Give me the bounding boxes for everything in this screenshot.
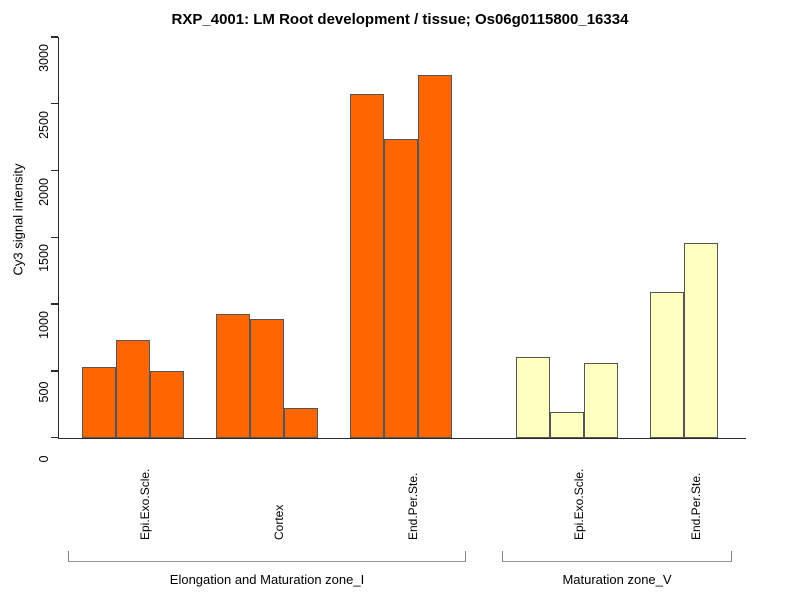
- bar[interactable]: [584, 363, 618, 438]
- x-axis-line: [58, 438, 746, 439]
- bar[interactable]: [384, 139, 418, 437]
- y-tick-label-0: 0: [37, 437, 51, 481]
- bar[interactable]: [250, 319, 284, 438]
- bar[interactable]: [550, 412, 584, 437]
- y-tick-label-1000: 1000: [37, 303, 51, 347]
- group-label: Elongation and Maturation zone_I: [68, 572, 466, 587]
- y-tick-label-3000: 3000: [37, 36, 51, 80]
- page-title: RXP_4001: LM Root development / tissue; …: [0, 11, 800, 28]
- y-tick-500: [51, 370, 58, 371]
- y-tick-label-2500: 2500: [37, 103, 51, 147]
- y-tick-2000: [51, 170, 58, 171]
- y-tick-1500: [51, 237, 58, 238]
- bar[interactable]: [650, 292, 684, 437]
- y-tick-2500: [51, 103, 58, 104]
- bar[interactable]: [216, 314, 250, 437]
- x-category-label: Cortex: [272, 505, 286, 540]
- y-tick-label-1500: 1500: [37, 236, 51, 280]
- x-category-label: End.Per.Ste.: [689, 473, 703, 540]
- x-category-label: Epi.Exo.Scle.: [572, 469, 586, 540]
- y-tick-3000: [51, 36, 58, 37]
- bar[interactable]: [150, 371, 184, 437]
- group-bracket: [502, 551, 732, 562]
- x-category-label: Epi.Exo.Scle.: [138, 469, 152, 540]
- bar[interactable]: [516, 357, 550, 438]
- y-tick-1000: [51, 303, 58, 304]
- y-tick-label-2000: 2000: [37, 170, 51, 214]
- group-label: Maturation zone_V: [502, 572, 732, 587]
- bar[interactable]: [82, 367, 116, 438]
- y-tick-label-500: 500: [37, 370, 51, 414]
- bar[interactable]: [284, 408, 318, 438]
- y-axis-label: Cy3 signal intensity: [11, 110, 26, 330]
- bar[interactable]: [418, 75, 452, 438]
- bar-chart-plot: RXP_4001: LM Root development / tissue; …: [0, 0, 800, 600]
- y-axis-line: [58, 37, 59, 439]
- bar[interactable]: [350, 94, 384, 437]
- x-category-label: End.Per.Ste.: [406, 473, 420, 540]
- group-bracket: [68, 551, 466, 562]
- y-tick-0: [51, 437, 58, 438]
- bar[interactable]: [116, 340, 150, 438]
- bar[interactable]: [684, 243, 718, 437]
